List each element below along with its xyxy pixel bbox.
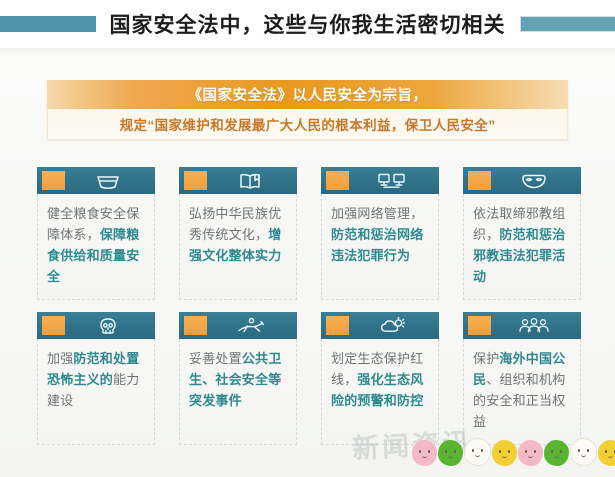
stretcher-rescue-icon <box>207 317 297 335</box>
card-header <box>321 312 439 339</box>
banner-secondary-text: 规定“国家维护和发展最广大人民的根本利益，保卫人民安全” <box>120 114 496 134</box>
card-text: 依法取缔邪教组织，防范和惩治邪教违法犯罪活动 <box>473 203 572 287</box>
people-group-icon <box>491 317 581 335</box>
page-title: 国家安全法中，这些与你我生活密切相关 <box>110 9 506 39</box>
provision-card[interactable]: 保护海外中国公民、组织和机构的安全和正当权益 <box>463 312 581 454</box>
card-text: 保护海外中国公民、组织和机构的安全和正当权益 <box>473 348 572 432</box>
card-header <box>463 312 581 339</box>
banner-secondary-row: 规定“国家维护和发展最广大人民的根本利益，保卫人民安全” <box>47 109 568 140</box>
provision-card[interactable]: 依法取缔邪教组织，防范和惩治邪教违法犯罪活动 <box>463 167 581 309</box>
card-accent-square <box>326 316 349 335</box>
card-accent-square <box>184 316 207 335</box>
provision-card[interactable]: 妥善处置公共卫生、社会安全等突发事件 <box>179 312 297 454</box>
card-text: 加强网络管理，防范和惩治网络违法犯罪行为 <box>331 203 430 266</box>
card-text-plain: 加强网络管理， <box>331 206 423 221</box>
card-body: 加强网络管理，防范和惩治网络违法犯罪行为 <box>321 194 439 300</box>
title-rule-left-icon <box>0 16 96 32</box>
provision-card[interactable]: 加强网络管理，防范和惩治网络违法犯罪行为 <box>321 167 439 309</box>
card-body: 妥善处置公共卫生、社会安全等突发事件 <box>179 339 297 445</box>
card-body: 划定生态保护红线，强化生态风险的预警和防控 <box>321 339 439 445</box>
card-text: 弘扬中华民族优秀传统文化，增强文化整体实力 <box>189 203 288 266</box>
page-header: 国家安全法中，这些与你我生活密切相关 <box>0 0 615 48</box>
card-accent-square <box>184 171 207 190</box>
card-header <box>179 167 297 194</box>
card-text: 加强防范和处置恐怖主义的能力建设 <box>47 348 146 411</box>
card-accent-square <box>42 316 65 335</box>
card-text-plain: 妥善处置 <box>189 351 242 366</box>
banner-primary-row: 《国家安全法》以人民安全为宗旨， <box>47 80 568 109</box>
card-text-plain: 保护 <box>473 351 499 366</box>
card-header <box>37 167 155 194</box>
card-accent-square <box>468 171 491 190</box>
provision-card[interactable]: 划定生态保护红线，强化生态风险的预警和防控 <box>321 312 439 454</box>
card-body: 依法取缔邪教组织，防范和惩治邪教违法犯罪活动 <box>463 194 581 300</box>
header-divider <box>0 48 615 54</box>
card-accent-square <box>326 171 349 190</box>
title-rule-right-icon <box>520 16 615 32</box>
cloud-sun-icon <box>349 317 439 335</box>
card-accent-square <box>468 316 491 335</box>
card-body: 健全粮食安全保障体系，保障粮食供给和质量安全 <box>37 194 155 300</box>
sticker-blob <box>598 440 615 466</box>
card-text: 妥善处置公共卫生、社会安全等突发事件 <box>189 348 288 411</box>
provision-card[interactable]: 健全粮食安全保障体系，保障粮食供给和质量安全 <box>37 167 155 309</box>
card-text-plain: 加强 <box>47 351 73 366</box>
card-text: 划定生态保护红线，强化生态风险的预警和防控 <box>331 348 430 411</box>
card-text-plain-tail: 、组织和机构的安全和正当权益 <box>473 372 565 429</box>
card-text-highlight: 防范和惩治网络违法犯罪行为 <box>331 227 423 263</box>
law-purpose-banner: 《国家安全法》以人民安全为宗旨， 规定“国家维护和发展最广大人民的根本利益，保卫… <box>47 80 568 140</box>
provision-card[interactable]: 弘扬中华民族优秀传统文化，增强文化整体实力 <box>179 167 297 309</box>
card-body: 加强防范和处置恐怖主义的能力建设 <box>37 339 155 445</box>
card-body: 弘扬中华民族优秀传统文化，增强文化整体实力 <box>179 194 297 300</box>
computer-network-icon <box>349 172 439 190</box>
infographic-page: 国家安全法中，这些与你我生活密切相关 《国家安全法》以人民安全为宗旨， 规定“国… <box>0 0 615 477</box>
card-accent-square <box>42 171 65 190</box>
card-header <box>463 167 581 194</box>
open-book-icon <box>207 172 297 190</box>
rice-bowl-icon <box>65 172 155 190</box>
card-header <box>179 312 297 339</box>
card-body: 保护海外中国公民、组织和机构的安全和正当权益 <box>463 339 581 445</box>
card-header <box>321 167 439 194</box>
skull-icon <box>65 317 155 335</box>
card-text: 健全粮食安全保障体系，保障粮食供给和质量安全 <box>47 203 146 287</box>
mask-icon <box>491 172 581 190</box>
provision-card-grid: 健全粮食安全保障体系，保障粮食供给和质量安全 弘扬中华民族优秀传统文化，增强文化 <box>37 167 582 454</box>
provision-card[interactable]: 加强防范和处置恐怖主义的能力建设 <box>37 312 155 454</box>
card-header <box>37 312 155 339</box>
banner-primary-text: 《国家安全法》以人民安全为宗旨， <box>188 84 428 105</box>
